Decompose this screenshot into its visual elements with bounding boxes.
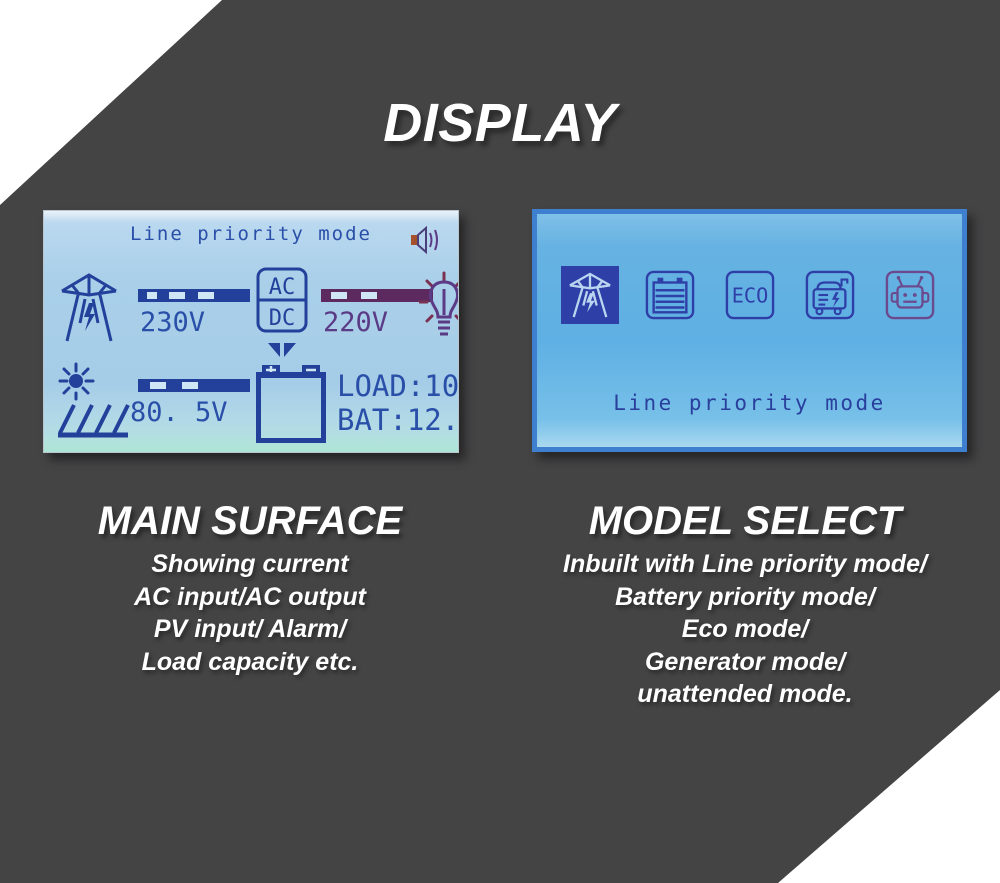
eco-icon: ECO bbox=[725, 270, 775, 320]
caption-line: Load capacity etc. bbox=[30, 646, 470, 679]
pv-input-flow-bar bbox=[138, 379, 250, 392]
double-arrow-down-icon bbox=[266, 341, 298, 359]
ac-input-flow-bar bbox=[138, 289, 250, 302]
mode-caption: Line priority mode bbox=[537, 391, 962, 415]
power-tower-icon bbox=[58, 269, 120, 345]
power-tower-icon bbox=[567, 270, 613, 320]
svg-text:AC: AC bbox=[269, 275, 296, 300]
model-select-display: ECO bbox=[532, 209, 967, 452]
generator-icon bbox=[805, 270, 855, 320]
svg-text:DC: DC bbox=[269, 306, 296, 331]
svg-text:ECO: ECO bbox=[731, 284, 767, 308]
mode-icon-row: ECO bbox=[537, 266, 962, 324]
ac-output-flow-bar bbox=[321, 289, 433, 302]
main-surface-display: Line priority mode bbox=[43, 210, 459, 453]
battery-icon bbox=[645, 270, 695, 320]
lcd-bezel-right: ECO bbox=[532, 209, 967, 452]
battery-reading: BAT:12. 5V bbox=[337, 403, 459, 437]
mode-generator[interactable] bbox=[801, 266, 859, 324]
mode-unattended[interactable] bbox=[881, 266, 939, 324]
robot-icon bbox=[885, 270, 935, 320]
ac-input-voltage: 230V bbox=[140, 307, 205, 338]
mode-battery-priority[interactable] bbox=[641, 266, 699, 324]
model-select-description: Inbuilt with Line priority mode/ Battery… bbox=[505, 548, 985, 711]
lcd-screen-right: ECO bbox=[537, 214, 962, 447]
lcd-screen-left: Line priority mode bbox=[43, 210, 459, 453]
speaker-alarm-icon bbox=[408, 225, 444, 255]
caption-line: Inbuilt with Line priority mode/ bbox=[505, 548, 985, 581]
solar-panel-icon bbox=[56, 361, 130, 441]
caption-line: Battery priority mode/ bbox=[505, 581, 985, 614]
ac-output-voltage: 220V bbox=[323, 307, 388, 338]
caption-line: PV input/ Alarm/ bbox=[30, 613, 470, 646]
caption-line: unattended mode. bbox=[505, 678, 985, 711]
load-reading: LOAD:100% bbox=[337, 369, 459, 403]
caption-line: Generator mode/ bbox=[505, 646, 985, 679]
pv-input-voltage: 80. 5V bbox=[130, 397, 228, 428]
caption-line: AC input/AC output bbox=[30, 581, 470, 614]
caption-line: Showing current bbox=[30, 548, 470, 581]
mode-eco[interactable]: ECO bbox=[721, 266, 779, 324]
ac-dc-converter: AC DC bbox=[256, 267, 308, 341]
main-surface-heading: MAIN SURFACE bbox=[30, 500, 470, 542]
lcd-title-left: Line priority mode bbox=[44, 223, 458, 245]
main-surface-caption: MAIN SURFACE Showing current AC input/AC… bbox=[30, 500, 470, 678]
model-select-heading: MODEL SELECT bbox=[505, 500, 985, 542]
caption-line: Eco mode/ bbox=[505, 613, 985, 646]
battery-icon bbox=[256, 363, 326, 443]
light-bulb-icon bbox=[419, 269, 459, 341]
page-title: DISPLAY bbox=[0, 92, 1000, 154]
model-select-caption: MODEL SELECT Inbuilt with Line priority … bbox=[505, 500, 985, 711]
mode-line-priority[interactable] bbox=[561, 266, 619, 324]
main-surface-description: Showing current AC input/AC output PV in… bbox=[30, 548, 470, 678]
